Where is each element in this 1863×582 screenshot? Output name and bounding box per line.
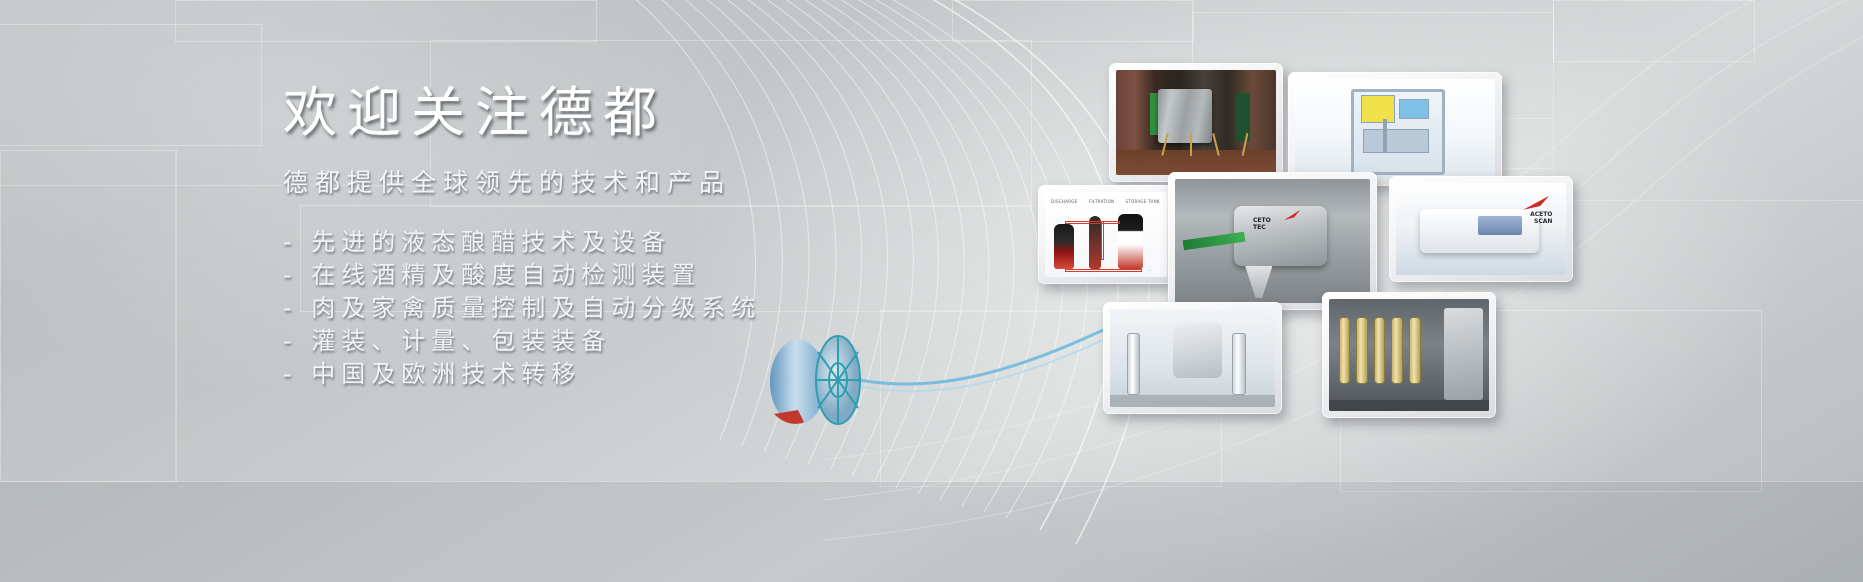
page-title: 欢迎关注德都 bbox=[283, 82, 923, 144]
diagram-label-storage: STORAGE TANK bbox=[1126, 199, 1160, 204]
thumbnail-process-flow-diagram[interactable]: DISCHARGE FILTRATION STORAGE TANK bbox=[1038, 185, 1174, 284]
brand-line-1: ACETO bbox=[1530, 211, 1552, 218]
promo-banner: 欢迎关注德都 德都提供全球领先的技术和产品 - 先进的液态酿醋技术及设备 - 在… bbox=[0, 0, 1863, 582]
filtration-skid-photo bbox=[1110, 309, 1275, 407]
brand-line-1: CETO bbox=[1253, 217, 1271, 224]
list-item: - 先进的液态酿醋技术及设备 bbox=[283, 226, 923, 259]
acetoscan-logo-swoosh bbox=[1523, 196, 1549, 210]
brand-line-2: TEC bbox=[1253, 224, 1266, 231]
thumbnail-membrane-filtration-plant[interactable] bbox=[1322, 292, 1496, 418]
acetoscan-brand-mark: ACETO SCAN bbox=[1530, 211, 1552, 225]
process-diagram-photo: DISCHARGE FILTRATION STORAGE TANK bbox=[1045, 192, 1167, 277]
thumbnail-filtration-skid[interactable] bbox=[1103, 302, 1282, 414]
banner-subtitle: 德都提供全球领先的技术和产品 bbox=[283, 166, 923, 200]
poultry-processing-photo bbox=[1116, 70, 1276, 175]
thumbnail-cetotec-fermenter[interactable]: CETO TEC bbox=[1168, 172, 1377, 310]
background-grid bbox=[0, 0, 1863, 582]
cetotec-brand-mark: CETO TEC bbox=[1253, 217, 1271, 231]
list-item: - 在线酒精及酸度自动检测装置 bbox=[283, 259, 923, 292]
cetotec-fermenter-photo: CETO TEC bbox=[1175, 179, 1370, 303]
list-item: - 肉及家禽质量控制及自动分级系统 bbox=[283, 292, 923, 325]
cad-render-photo bbox=[1295, 79, 1495, 179]
membrane-plant-photo bbox=[1329, 299, 1489, 411]
thumbnail-poultry-processing-line[interactable] bbox=[1109, 63, 1283, 182]
acetoscan-analyzer-photo: ACETO SCAN bbox=[1396, 183, 1566, 275]
thumbnail-acetoscan-analyzer[interactable]: ACETO SCAN bbox=[1389, 176, 1573, 282]
diagram-label-discharge: DISCHARGE bbox=[1051, 199, 1077, 204]
brand-line-2: SCAN bbox=[1534, 218, 1552, 225]
thumbnail-cad-equipment-render[interactable] bbox=[1288, 72, 1502, 186]
fiber-reel-graphic bbox=[752, 330, 870, 428]
diagram-label-filtration: FILTRATION bbox=[1089, 199, 1114, 204]
